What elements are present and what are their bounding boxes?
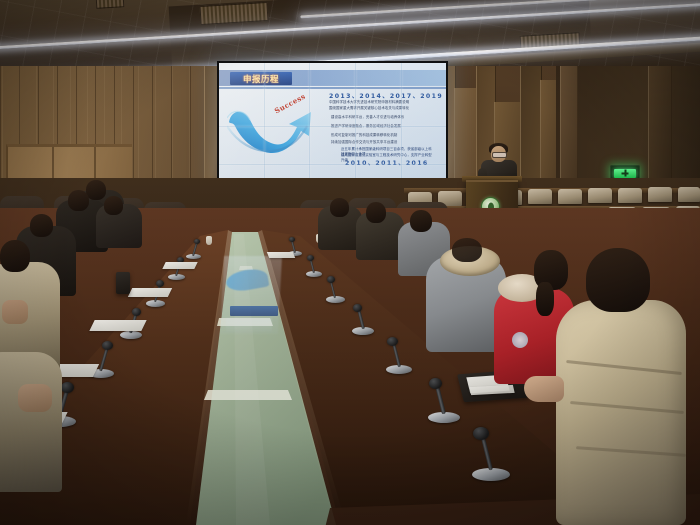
seat (558, 189, 582, 204)
document-stack (89, 320, 146, 331)
presentation-slide: 申报历程 (219, 63, 446, 180)
hand (524, 376, 564, 402)
jacket-logo (512, 332, 528, 348)
document-stack (128, 288, 172, 297)
seat (588, 188, 612, 203)
screen-glare (219, 63, 446, 180)
conference-room-photo: 申报历程 (0, 0, 700, 525)
dark-binder (116, 272, 130, 294)
table-reflection-title (230, 306, 278, 316)
led-video-wall: 申报历程 (217, 61, 448, 182)
exit-cross-icon (622, 170, 629, 177)
seat (648, 187, 672, 202)
document-stack (162, 262, 197, 269)
document-stack (267, 252, 295, 258)
water-cup (206, 236, 212, 245)
speaker-eyeglasses (492, 152, 507, 158)
seat (528, 189, 552, 204)
seat (618, 188, 642, 203)
seat (678, 187, 700, 202)
ponytail (536, 282, 554, 316)
table-reflection-panel (226, 318, 272, 332)
